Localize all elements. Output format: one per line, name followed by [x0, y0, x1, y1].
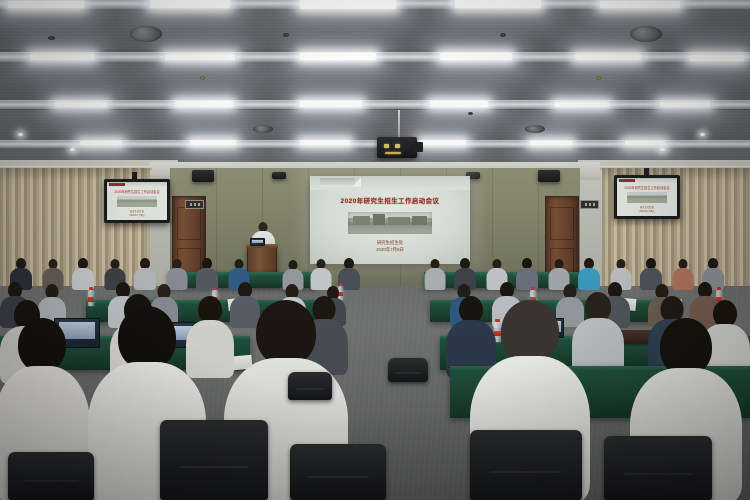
ceiling-speaker-icon [253, 125, 273, 133]
chair [470, 430, 582, 500]
ceiling-vent-icon [500, 33, 506, 37]
monitor-slide-date: 2020年7月8日 [617, 209, 677, 213]
ceiling-light [690, 55, 744, 61]
ceiling-light [30, 54, 94, 60]
projection-screen: 2020年研究生招生工作启动会议 研究生招生处 2020年7月8日 [310, 176, 470, 264]
ceiling-light [300, 101, 362, 107]
monitor-left: 2020年研究生招生工作启动会议 研究生招生处 2020年7月8日 [104, 179, 170, 223]
ceiling-vent-icon [48, 36, 55, 40]
ceiling-light [600, 1, 680, 8]
water-bottle [88, 290, 94, 306]
slide-title: 2020年研究生招生工作启动会议 [310, 196, 470, 205]
ceiling-light [530, 141, 572, 145]
monitor-slide-title: 2020年研究生招生工作启动会议 [617, 185, 677, 190]
ceiling-light [165, 54, 235, 60]
projector-connector [414, 142, 423, 152]
slide-photo [348, 212, 431, 234]
ceiling-light [440, 53, 512, 60]
ceiling-light [575, 54, 641, 60]
ceiling-light [455, 0, 541, 8]
attendee [310, 259, 331, 288]
chair [8, 452, 94, 500]
wall-control-plate-right[interactable] [580, 200, 599, 209]
slide-organization: 研究生招生处 [310, 240, 470, 246]
ceiling-vent-icon [283, 33, 289, 37]
ceiling-light [420, 140, 466, 145]
wall-control-plate-left[interactable] [185, 200, 204, 209]
ceiling-light [55, 102, 107, 107]
ceiling-light [430, 101, 488, 107]
ceiling-light [80, 141, 122, 145]
ceiling-light [625, 141, 665, 145]
ceiling-light [175, 101, 233, 107]
ceiling-downlight-icon [660, 148, 665, 151]
chair [290, 444, 386, 500]
monitor-slide-date: 2020年7月8日 [107, 213, 167, 217]
ceiling-vent-icon [468, 112, 473, 115]
ceiling-light [300, 53, 376, 60]
ceiling-light [8, 1, 84, 8]
ceiling-downlight-icon [70, 148, 75, 151]
wall-speaker-icon [538, 170, 560, 182]
attendee [196, 258, 218, 288]
ceiling [0, 0, 750, 172]
monitor-slide-title: 2020年研究生招生工作启动会议 [107, 189, 167, 194]
ceiling-light [300, 140, 350, 145]
ceiling-light [150, 0, 230, 8]
attendee [72, 258, 94, 288]
ceiling-speaker-icon [525, 125, 545, 133]
ceiling-beam [0, 100, 750, 109]
attendee [424, 259, 445, 288]
ceiling-downlight-icon [700, 133, 705, 136]
wall-speaker-icon [272, 172, 286, 179]
ceiling-light [300, 0, 396, 9]
monitor-right: 2020年研究生招生工作启动会议 研究生招生处 2020年7月8日 [614, 175, 680, 219]
chair [388, 358, 428, 382]
wall-speaker-icon [192, 170, 214, 182]
ceiling-speaker-icon [130, 26, 162, 42]
conference-room-photo: 2020年研究生招生工作启动会议 研究生招生处 2020年7月8日 2020年研… [0, 0, 750, 500]
chair [160, 420, 268, 500]
projector-icon [377, 137, 417, 158]
chair [288, 372, 332, 400]
podium-laptop [250, 238, 265, 246]
ceiling-speaker-icon [630, 26, 662, 42]
ceiling-light [555, 102, 609, 107]
projector-mount [398, 110, 400, 138]
ceiling-downlight-icon [18, 133, 23, 136]
screen-window-glare [310, 176, 470, 190]
ceiling-vent-icon [596, 76, 601, 80]
chair [604, 436, 712, 500]
ceiling-light [660, 102, 710, 107]
ceiling-vent-icon [200, 76, 205, 80]
slide-date: 2020年7月8日 [310, 247, 470, 253]
ceiling-light [190, 140, 236, 145]
